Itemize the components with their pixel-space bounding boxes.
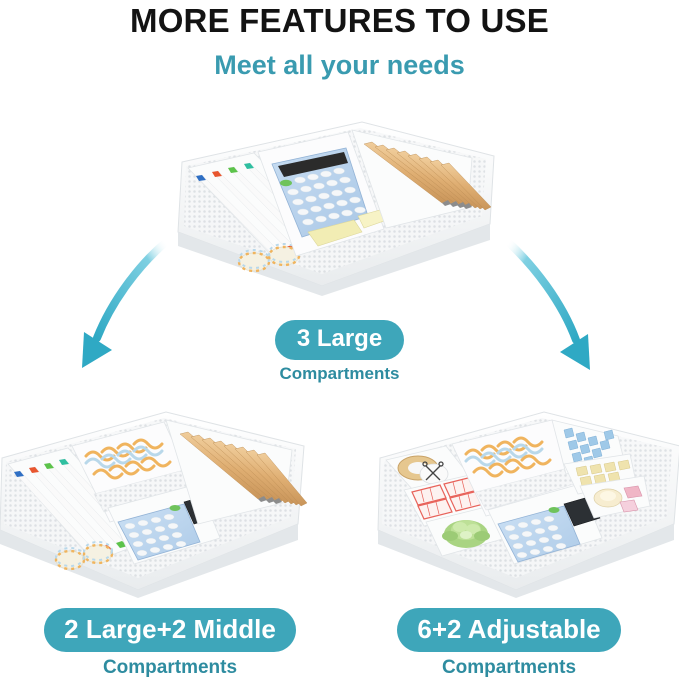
organizer-tray-bottom-right xyxy=(368,398,679,603)
badge-bottom-right-tray: 6+2 Adjustable Compartments xyxy=(339,608,679,678)
badge-caption-top: Compartments xyxy=(0,364,679,384)
calculator-power-button xyxy=(170,505,181,511)
badge-caption-right: Compartments xyxy=(339,657,679,678)
badge-pill-top: 3 Large xyxy=(275,320,404,360)
organizer-tray-bottom-left xyxy=(0,398,316,603)
badge-pill-right: 6+2 Adjustable xyxy=(397,608,620,652)
badge-bottom-left-tray: 2 Large+2 Middle Compartments xyxy=(0,608,340,678)
page-title: MORE FEATURES TO USE xyxy=(0,2,679,40)
badge-top-tray: 3 Large Compartments xyxy=(0,320,679,384)
calculator-power-button xyxy=(549,507,560,513)
infographic-page: MORE FEATURES TO USE Meet all your needs xyxy=(0,0,679,678)
calculator-power-button xyxy=(280,180,292,186)
page-subtitle: Meet all your needs xyxy=(0,49,679,81)
badge-caption-left: Compartments xyxy=(0,657,340,678)
badge-pill-left: 2 Large+2 Middle xyxy=(44,608,296,652)
